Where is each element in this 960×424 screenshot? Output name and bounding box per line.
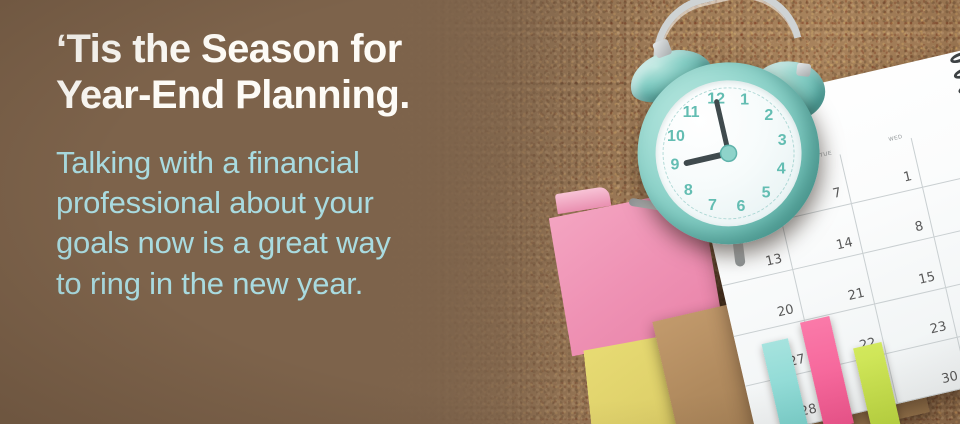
clock-hand-hub [719, 144, 738, 163]
calendar-day-number-13: 13 [764, 252, 783, 270]
subcopy-line-3: goals now is a great way [56, 223, 526, 263]
calendar-day-number-1: 1 [902, 169, 913, 185]
calendar-day-number-8: 8 [914, 219, 925, 235]
promo-subcopy: Talking with a financialprofessional abo… [56, 143, 526, 304]
clock-hands [641, 66, 816, 241]
subcopy-line-1: Talking with a financial [56, 143, 526, 183]
calendar-day-number-21: 21 [846, 285, 865, 303]
headline-line-2: Year-End Planning. [56, 72, 526, 118]
calendar-day-number-15: 15 [917, 269, 936, 287]
spiral-ring [953, 65, 960, 81]
calendar-day-number-14: 14 [835, 235, 854, 253]
calendar-day-number-30: 30 [940, 369, 959, 387]
clock-face: 121234567891011 [641, 66, 816, 241]
calendar-day-number-23: 23 [929, 319, 948, 337]
subcopy-line-4: to ring in the new year. [56, 264, 526, 304]
calendar-day-number-20: 20 [776, 302, 795, 320]
promo-banner: 7 MONTUEWED 6712131489202115162722231728… [0, 0, 960, 424]
promo-copy: ‘Tis the Season forYear-End Planning. Ta… [56, 26, 526, 304]
headline-line-1: ‘Tis the Season for [56, 26, 526, 72]
subcopy-line-2: professional about your [56, 183, 526, 223]
page-title: ‘Tis the Season forYear-End Planning. [56, 26, 526, 119]
clock-bell-cap-right [796, 62, 811, 77]
spiral-ring [949, 50, 960, 66]
